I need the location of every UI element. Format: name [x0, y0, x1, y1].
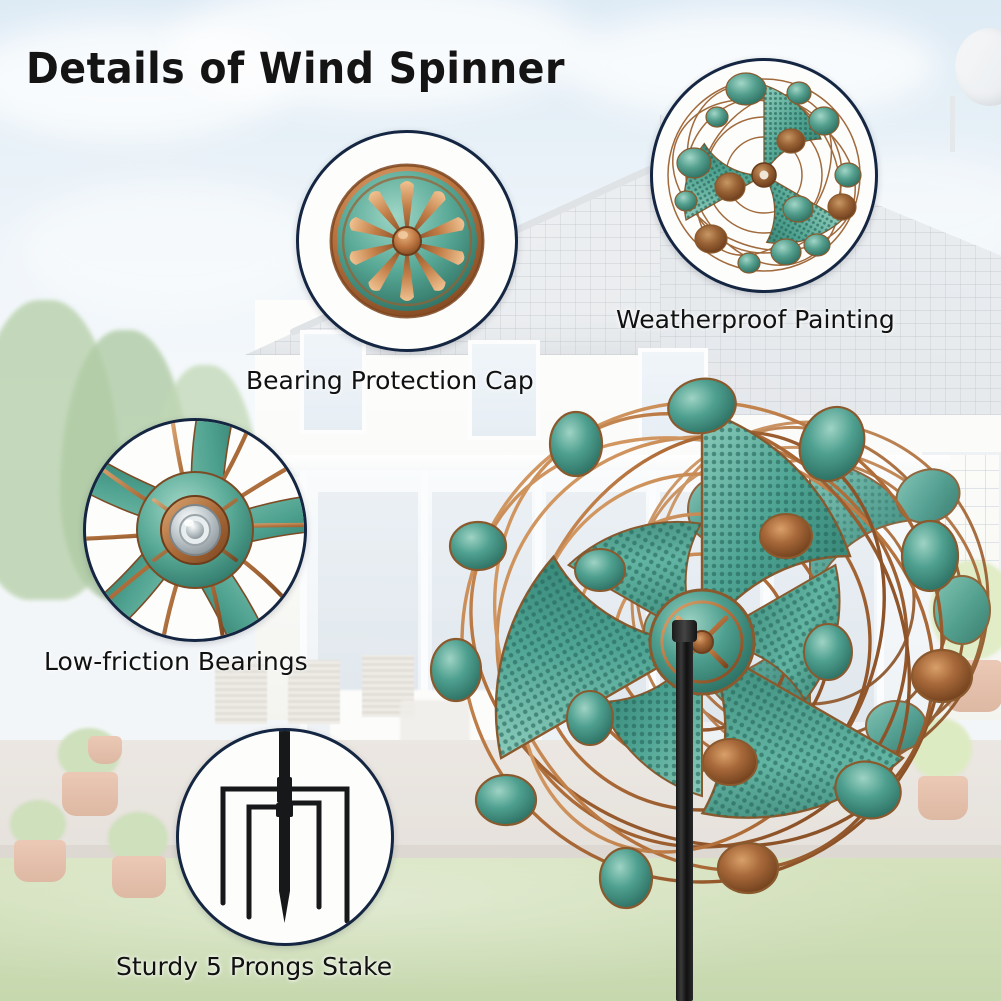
stake-prongs [223, 728, 347, 923]
bearing-hub-icon [86, 421, 304, 639]
callout-sturdy-5-prongs-stake[interactable] [176, 728, 394, 946]
callout-label-sturdy-5-prongs-stake: Sturdy 5 Prongs Stake [116, 952, 392, 981]
pole-cap [672, 620, 697, 642]
flower-pot [88, 736, 122, 764]
five-prong-stake-icon [179, 731, 391, 943]
callout-label-weatherproof-painting: Weatherproof Painting [616, 305, 895, 334]
callout-bearing-protection-cap[interactable] [296, 130, 518, 352]
spinner-pole [676, 632, 693, 1001]
center-spike [279, 811, 290, 923]
page-title: Details of Wind Spinner [26, 44, 565, 94]
flower-pot [62, 772, 118, 816]
spinner-face-icon [653, 61, 875, 290]
wind-spinner-front-rotor [430, 370, 975, 915]
callout-low-friction-bearings[interactable] [83, 418, 307, 642]
product-infographic: Details of Wind Spinner [0, 0, 1001, 1001]
callout-label-low-friction-bearings: Low-friction Bearings [44, 647, 308, 676]
bearing-cap-medallion-icon [299, 133, 515, 349]
flower-pot [14, 840, 66, 882]
flower-pot [112, 856, 166, 898]
callout-weatherproof-painting[interactable] [650, 58, 878, 293]
cloud [20, 180, 320, 310]
front-hub-medallion [650, 590, 754, 694]
satellite-dish-arm [950, 96, 955, 152]
